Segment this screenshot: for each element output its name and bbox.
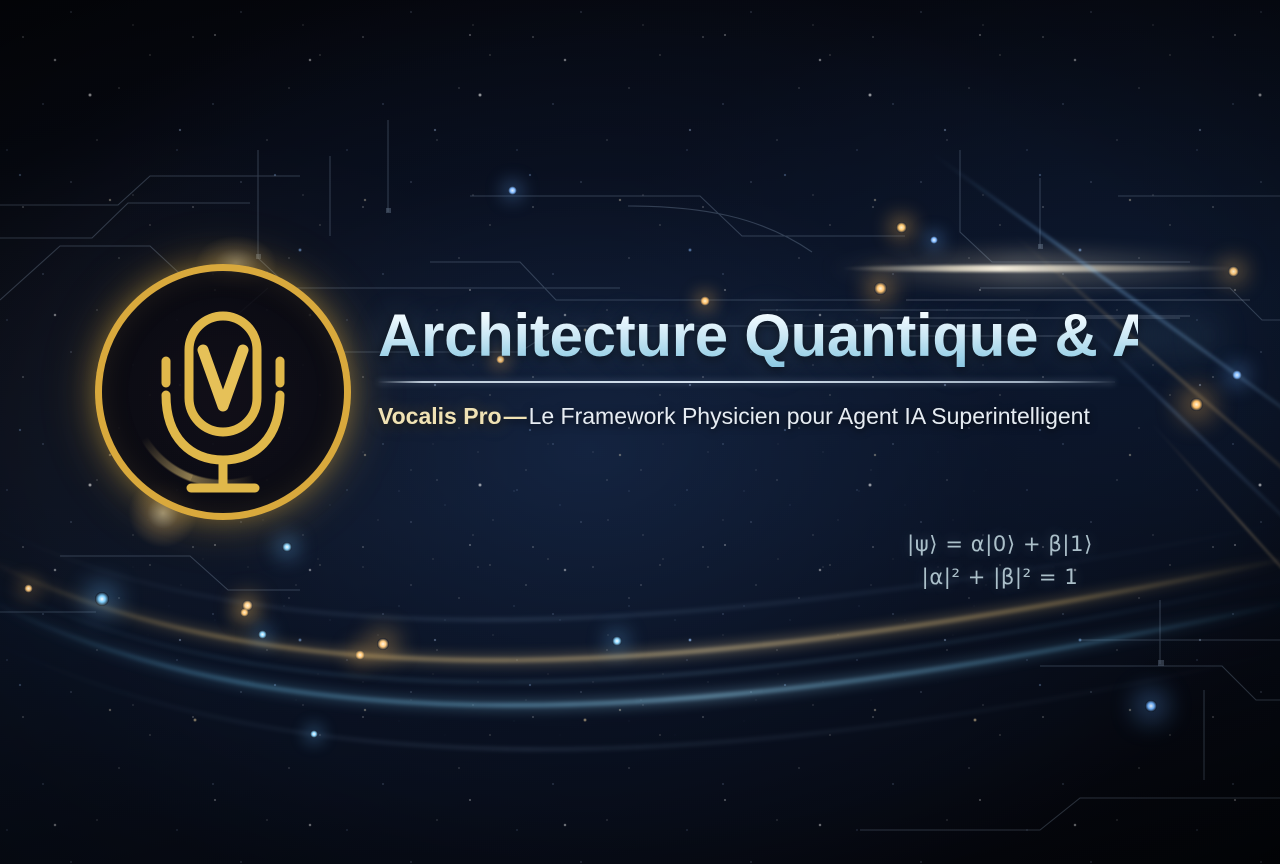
trail-star-blue (310, 730, 318, 738)
trail-star-gold (355, 650, 365, 660)
trail-star-blue (258, 630, 267, 639)
logo-letter-v (203, 350, 243, 406)
circuit-node-gold (1228, 266, 1239, 277)
circuit-node-blue (508, 186, 517, 195)
vocalis-logo[interactable] (95, 264, 351, 520)
circuit-node-blue (930, 236, 938, 244)
circuit-node-blue (1232, 370, 1242, 380)
brand-name: Vocalis Pro (378, 403, 502, 429)
trail-star-blue (612, 636, 622, 646)
poster-canvas: Architecture Quantique & AGI Vocalis Pro… (0, 0, 1280, 864)
trail-star-blue (282, 542, 292, 552)
quantum-equations: |ψ⟩ = α|0⟩ + β|1⟩ |α|² + |β|² = 1 (860, 528, 1140, 593)
light-streak-diagonal (1149, 420, 1280, 689)
subtitle-dash: — (502, 403, 529, 429)
circuit-node-gold (1190, 398, 1203, 411)
equation-state: |ψ⟩ = α|0⟩ + β|1⟩ (860, 528, 1140, 561)
subtitle: Vocalis Pro—Le Framework Physicien pour … (378, 402, 1138, 431)
trail-star-blue (95, 592, 109, 606)
lens-flare-horizontal (840, 265, 1240, 272)
lens-flare-horizontal-glow (820, 252, 1260, 286)
trail-star-gold (377, 638, 389, 650)
trail-star-gold (24, 584, 33, 593)
hero-text-block: Architecture Quantique & AGI Vocalis Pro… (378, 304, 1138, 431)
circuit-node-gold (896, 222, 907, 233)
tagline: Le Framework Physicien pour Agent IA Sup… (529, 403, 1090, 429)
circuit-node-gold (874, 282, 887, 295)
trail-star-gold (242, 600, 253, 611)
trail-star-gold (240, 608, 249, 617)
equation-normalization: |α|² + |β|² = 1 (860, 561, 1140, 594)
circuit-node-blue (1145, 700, 1157, 712)
microphone-icon (95, 264, 351, 520)
page-title: Architecture Quantique & AGI (378, 304, 1138, 367)
title-divider (378, 381, 1115, 383)
